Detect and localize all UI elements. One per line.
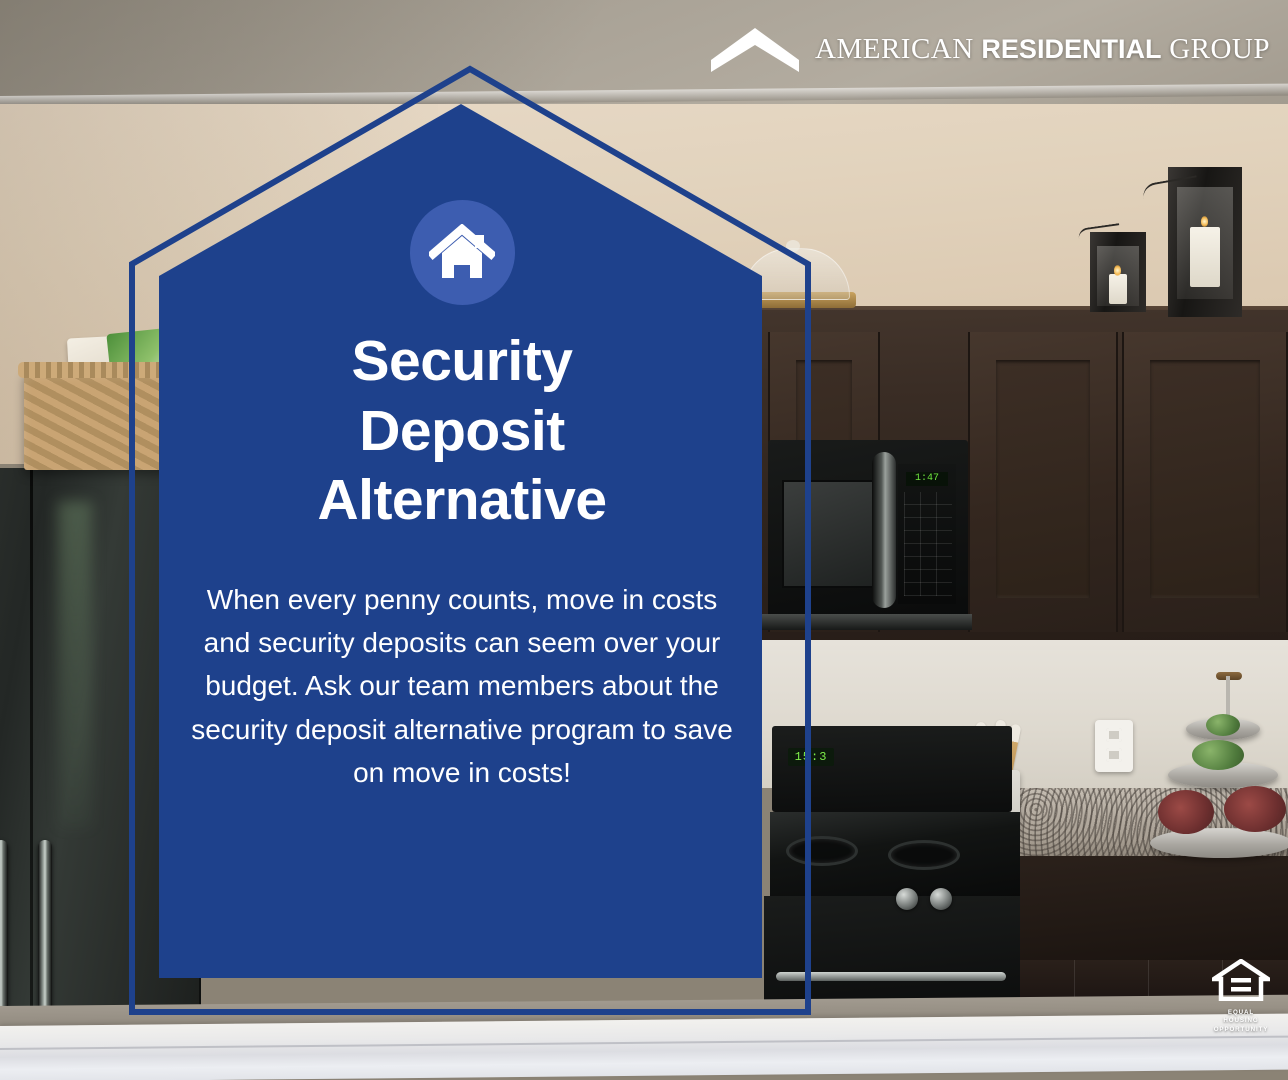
brand-name-bold: RESIDENTIAL: [981, 34, 1161, 64]
home-icon: [429, 224, 495, 282]
equal-housing-opportunity-icon: [1212, 959, 1270, 1001]
chevron-roof-icon: [711, 26, 799, 72]
page-title: Security Deposit Alternative: [160, 327, 764, 536]
eho-line-1: EQUAL HOUSING: [1223, 1009, 1258, 1024]
home-icon-badge: [410, 200, 515, 305]
brand-logo: AMERICAN RESIDENTIAL GROUP: [711, 26, 1270, 72]
promo-card-content: Security Deposit Alternative When every …: [160, 200, 764, 795]
eho-line-2: OPPORTUNITY: [1214, 1026, 1269, 1033]
brand-name: AMERICAN RESIDENTIAL GROUP: [815, 33, 1270, 66]
promo-body-text: When every penny counts, move in costs a…: [160, 578, 764, 795]
headline-line-1: Security: [352, 329, 573, 393]
brand-name-part1: AMERICAN: [815, 33, 981, 65]
brand-name-part2: GROUP: [1161, 33, 1270, 65]
promo-graphic: 1:47 15:3: [0, 0, 1288, 1080]
eho-label: EQUAL HOUSING OPPORTUNITY: [1210, 1009, 1272, 1034]
headline-line-2: Deposit: [359, 399, 565, 463]
equal-housing-opportunity-badge: EQUAL HOUSING OPPORTUNITY: [1210, 959, 1272, 1034]
headline-line-3: Alternative: [317, 468, 606, 532]
